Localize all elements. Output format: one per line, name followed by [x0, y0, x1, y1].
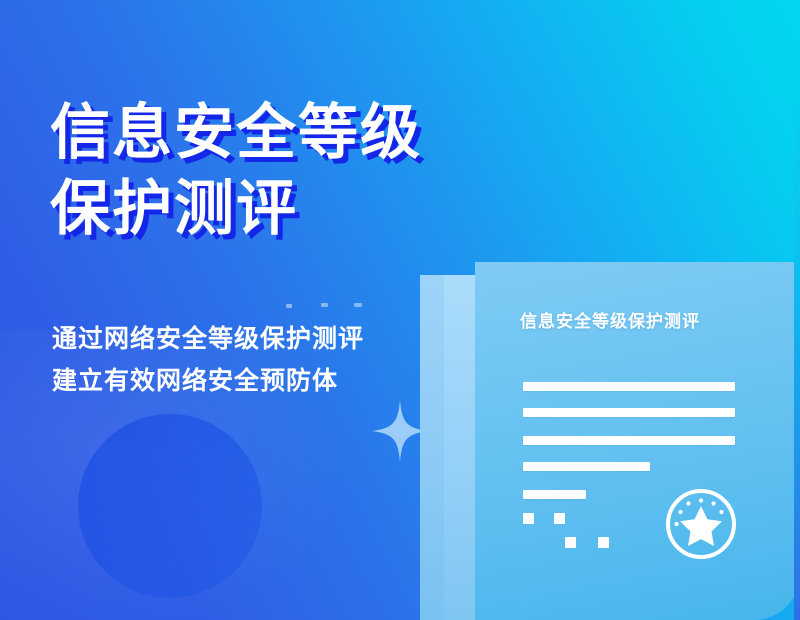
promo-banner: 信息安全等级保护测评 信息安全等级 保护测评 通过网络安全等级保护测评 建立有效…	[0, 0, 800, 620]
certificate-square-marker	[554, 513, 565, 524]
headline: 信息安全等级 保护测评	[50, 95, 570, 247]
certificate-title: 信息安全等级保护测评	[475, 307, 745, 332]
dot-decoration-1	[286, 304, 292, 308]
headline-line-1: 信息安全等级	[50, 95, 570, 171]
subheadline: 通过网络安全等级保护测评 建立有效网络安全预防体	[52, 318, 472, 402]
certificate-square-marker	[598, 537, 609, 548]
star-seal-icon	[663, 486, 739, 562]
dot-decoration-3	[354, 303, 362, 307]
headline-line-2: 保护测评	[50, 171, 570, 247]
subheadline-line-1: 通过网络安全等级保护测评	[52, 318, 472, 360]
certificate-text-line	[523, 382, 735, 391]
subheadline-line-2: 建立有效网络安全预防体	[52, 360, 472, 402]
certificate-square-marker	[523, 513, 534, 524]
certificate-square-marker	[565, 537, 576, 548]
certificate-text-line	[523, 436, 735, 445]
certificate-text-line	[523, 490, 586, 499]
certificate-illustration: 信息安全等级保护测评	[418, 260, 800, 620]
circle-decoration	[78, 414, 262, 598]
dot-decoration-2	[321, 303, 328, 307]
certificate-text-line	[523, 408, 735, 417]
certificate-text-line	[523, 462, 650, 471]
